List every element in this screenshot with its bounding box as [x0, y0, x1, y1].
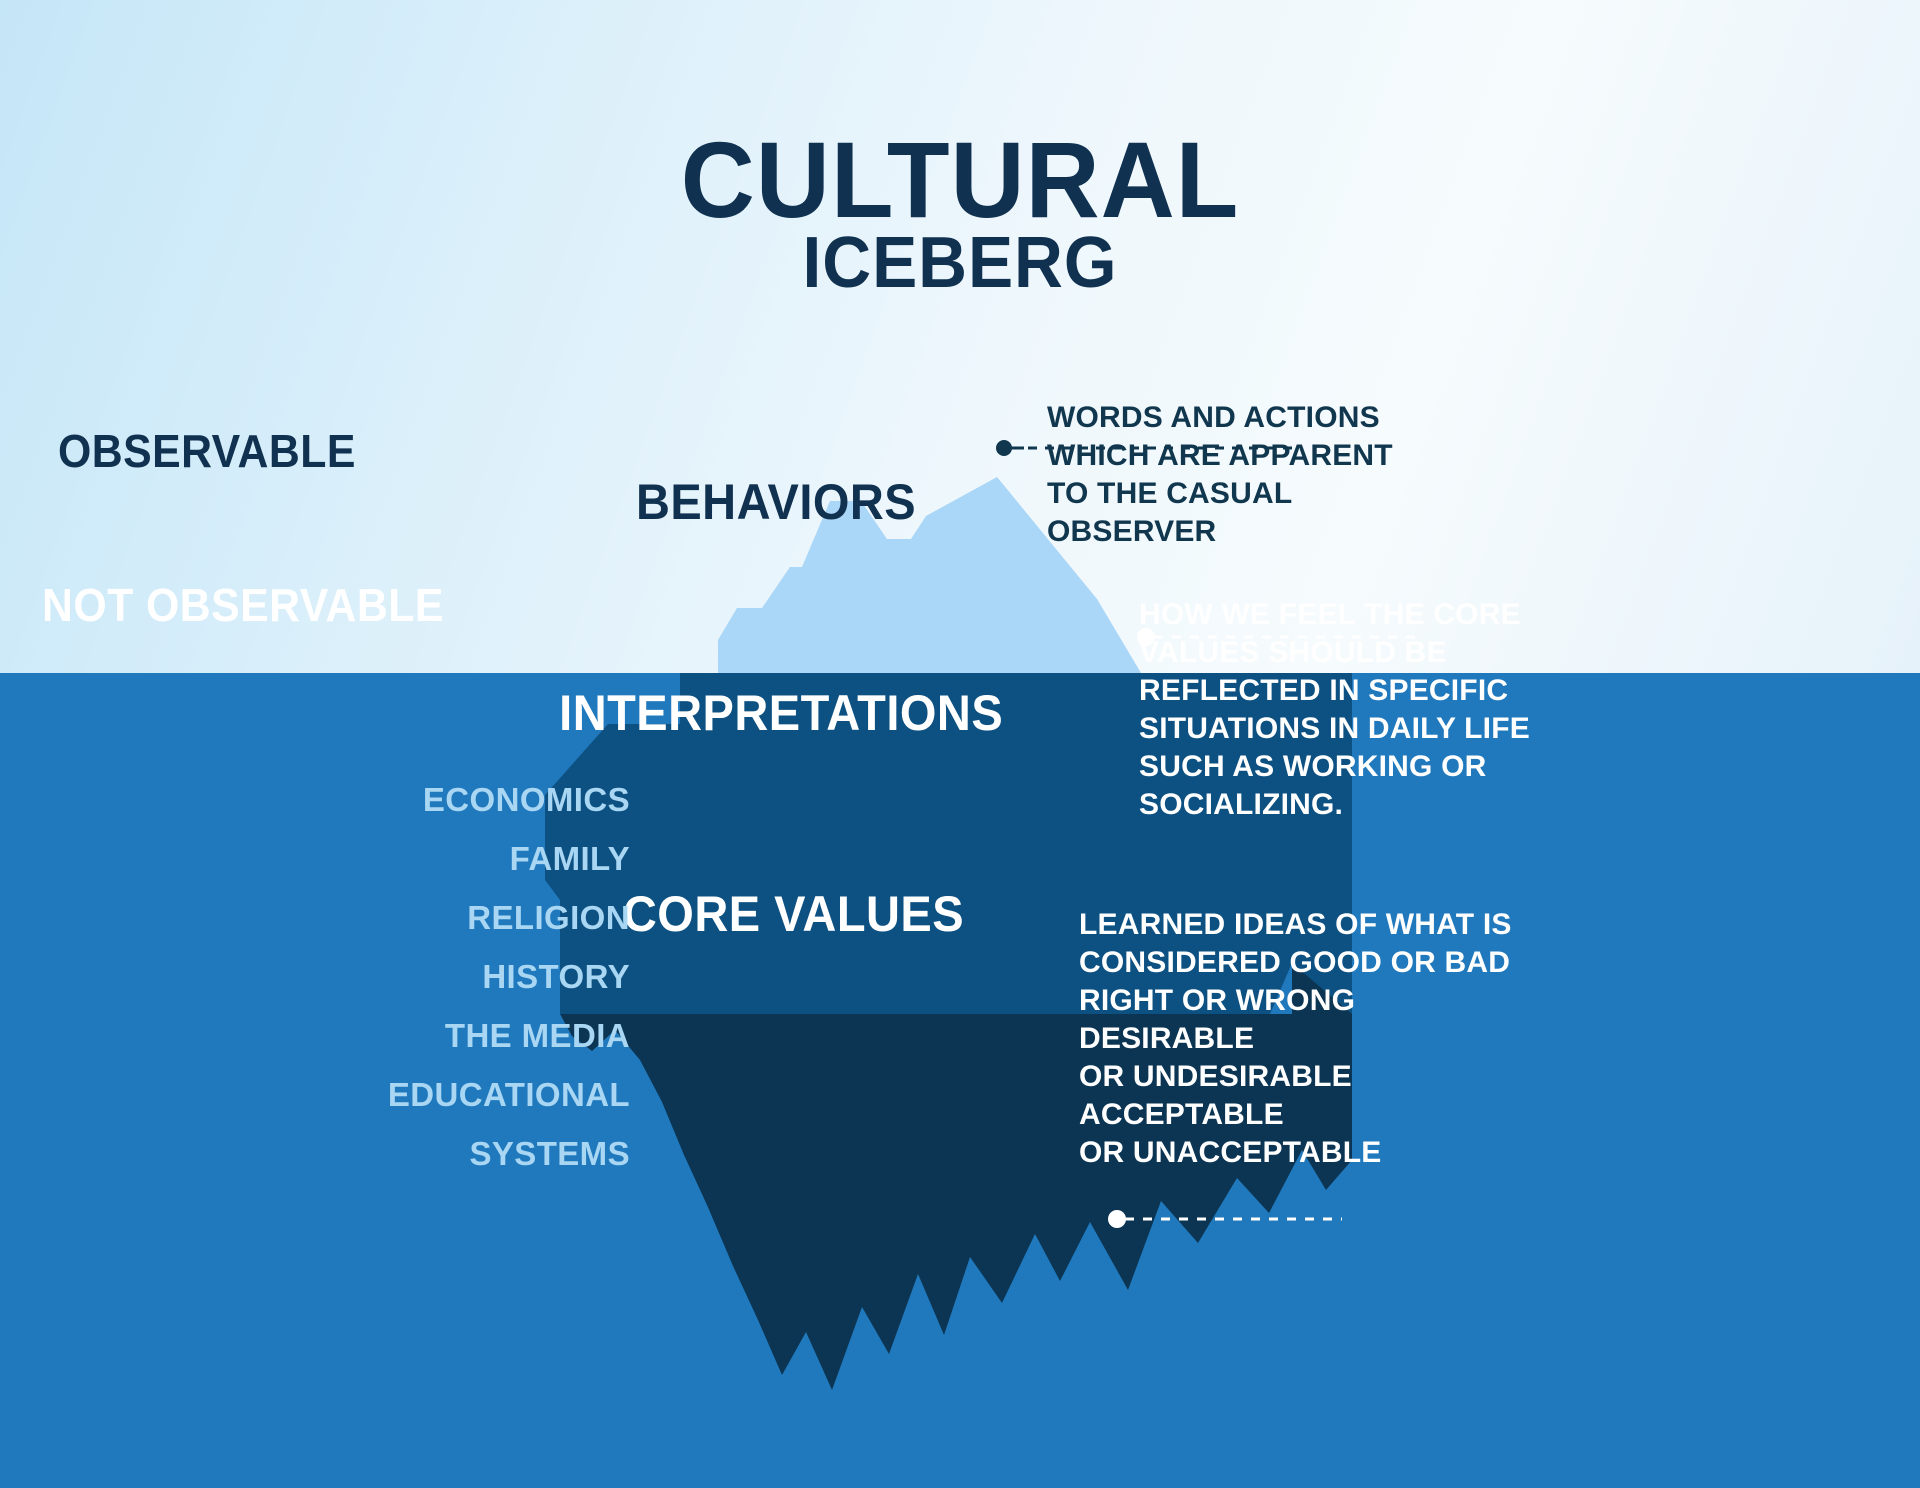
annotation-core-values-line-5: OR UNACCEPTABLE	[1079, 1134, 1519, 1172]
aspect-item-the-media: THE MEDIA	[120, 1006, 630, 1065]
aspect-item-family: FAMILY	[120, 829, 630, 888]
layer-label-core-values: CORE VALUES	[623, 885, 964, 943]
annotation-behaviors-line-2: WHICH ARE APPARENT	[1047, 437, 1467, 475]
cultural-aspects-list: ECONOMICS FAMILY RELIGION HISTORY THE ME…	[120, 770, 630, 1183]
annotation-core-values-line-3: RIGHT OR WRONG DESIRABLE	[1079, 982, 1519, 1058]
annotation-behaviors-line-1: WORDS AND ACTIONS	[1047, 399, 1467, 437]
layer-label-behaviors: BEHAVIORS	[636, 473, 916, 531]
annotation-interpretations-line-4: SITUATIONS IN DAILY LIFE	[1139, 710, 1539, 748]
annotation-interpretations-line-6: SOCIALIZING.	[1139, 786, 1539, 824]
annotation-core-values: LEARNED IDEAS OF WHAT IS CONSIDERED GOOD…	[1079, 906, 1519, 1172]
page-title-sub: ICEBERG	[58, 227, 1863, 299]
annotation-core-values-line-2: CONSIDERED GOOD OR BAD	[1079, 944, 1519, 982]
zone-label-not-observable: NOT OBSERVABLE	[42, 578, 444, 632]
annotation-interpretations-line-3: REFLECTED IN SPECIFIC	[1139, 672, 1539, 710]
annotation-behaviors-line-3: TO THE CASUAL OBSERVER	[1047, 475, 1467, 551]
aspect-item-economics: ECONOMICS	[120, 770, 630, 829]
annotation-interpretations-line-2: VALUES SHOULD BE	[1139, 634, 1539, 672]
infographic-canvas: CULTURAL ICEBERG OBSERVABLE NOT OBSERVAB…	[0, 0, 1920, 1488]
page-title-main: CULTURAL	[48, 126, 1872, 234]
aspect-item-history: HISTORY	[120, 947, 630, 1006]
annotation-interpretations-line-5: SUCH AS WORKING OR	[1139, 748, 1539, 786]
zone-label-observable: OBSERVABLE	[58, 424, 356, 478]
annotation-core-values-line-4: OR UNDESIRABLE ACCEPTABLE	[1079, 1058, 1519, 1134]
annotation-behaviors: WORDS AND ACTIONS WHICH ARE APPARENT TO …	[1047, 399, 1467, 551]
annotation-core-values-line-1: LEARNED IDEAS OF WHAT IS	[1079, 906, 1519, 944]
annotation-interpretations-line-1: HOW WE FEEL THE CORE	[1139, 596, 1539, 634]
layer-label-interpretations: INTERPRETATIONS	[559, 684, 1003, 742]
aspect-item-educational-systems: EDUCATIONAL SYSTEMS	[120, 1065, 630, 1183]
aspect-item-religion: RELIGION	[120, 888, 630, 947]
annotation-interpretations: HOW WE FEEL THE CORE VALUES SHOULD BE RE…	[1139, 596, 1539, 824]
